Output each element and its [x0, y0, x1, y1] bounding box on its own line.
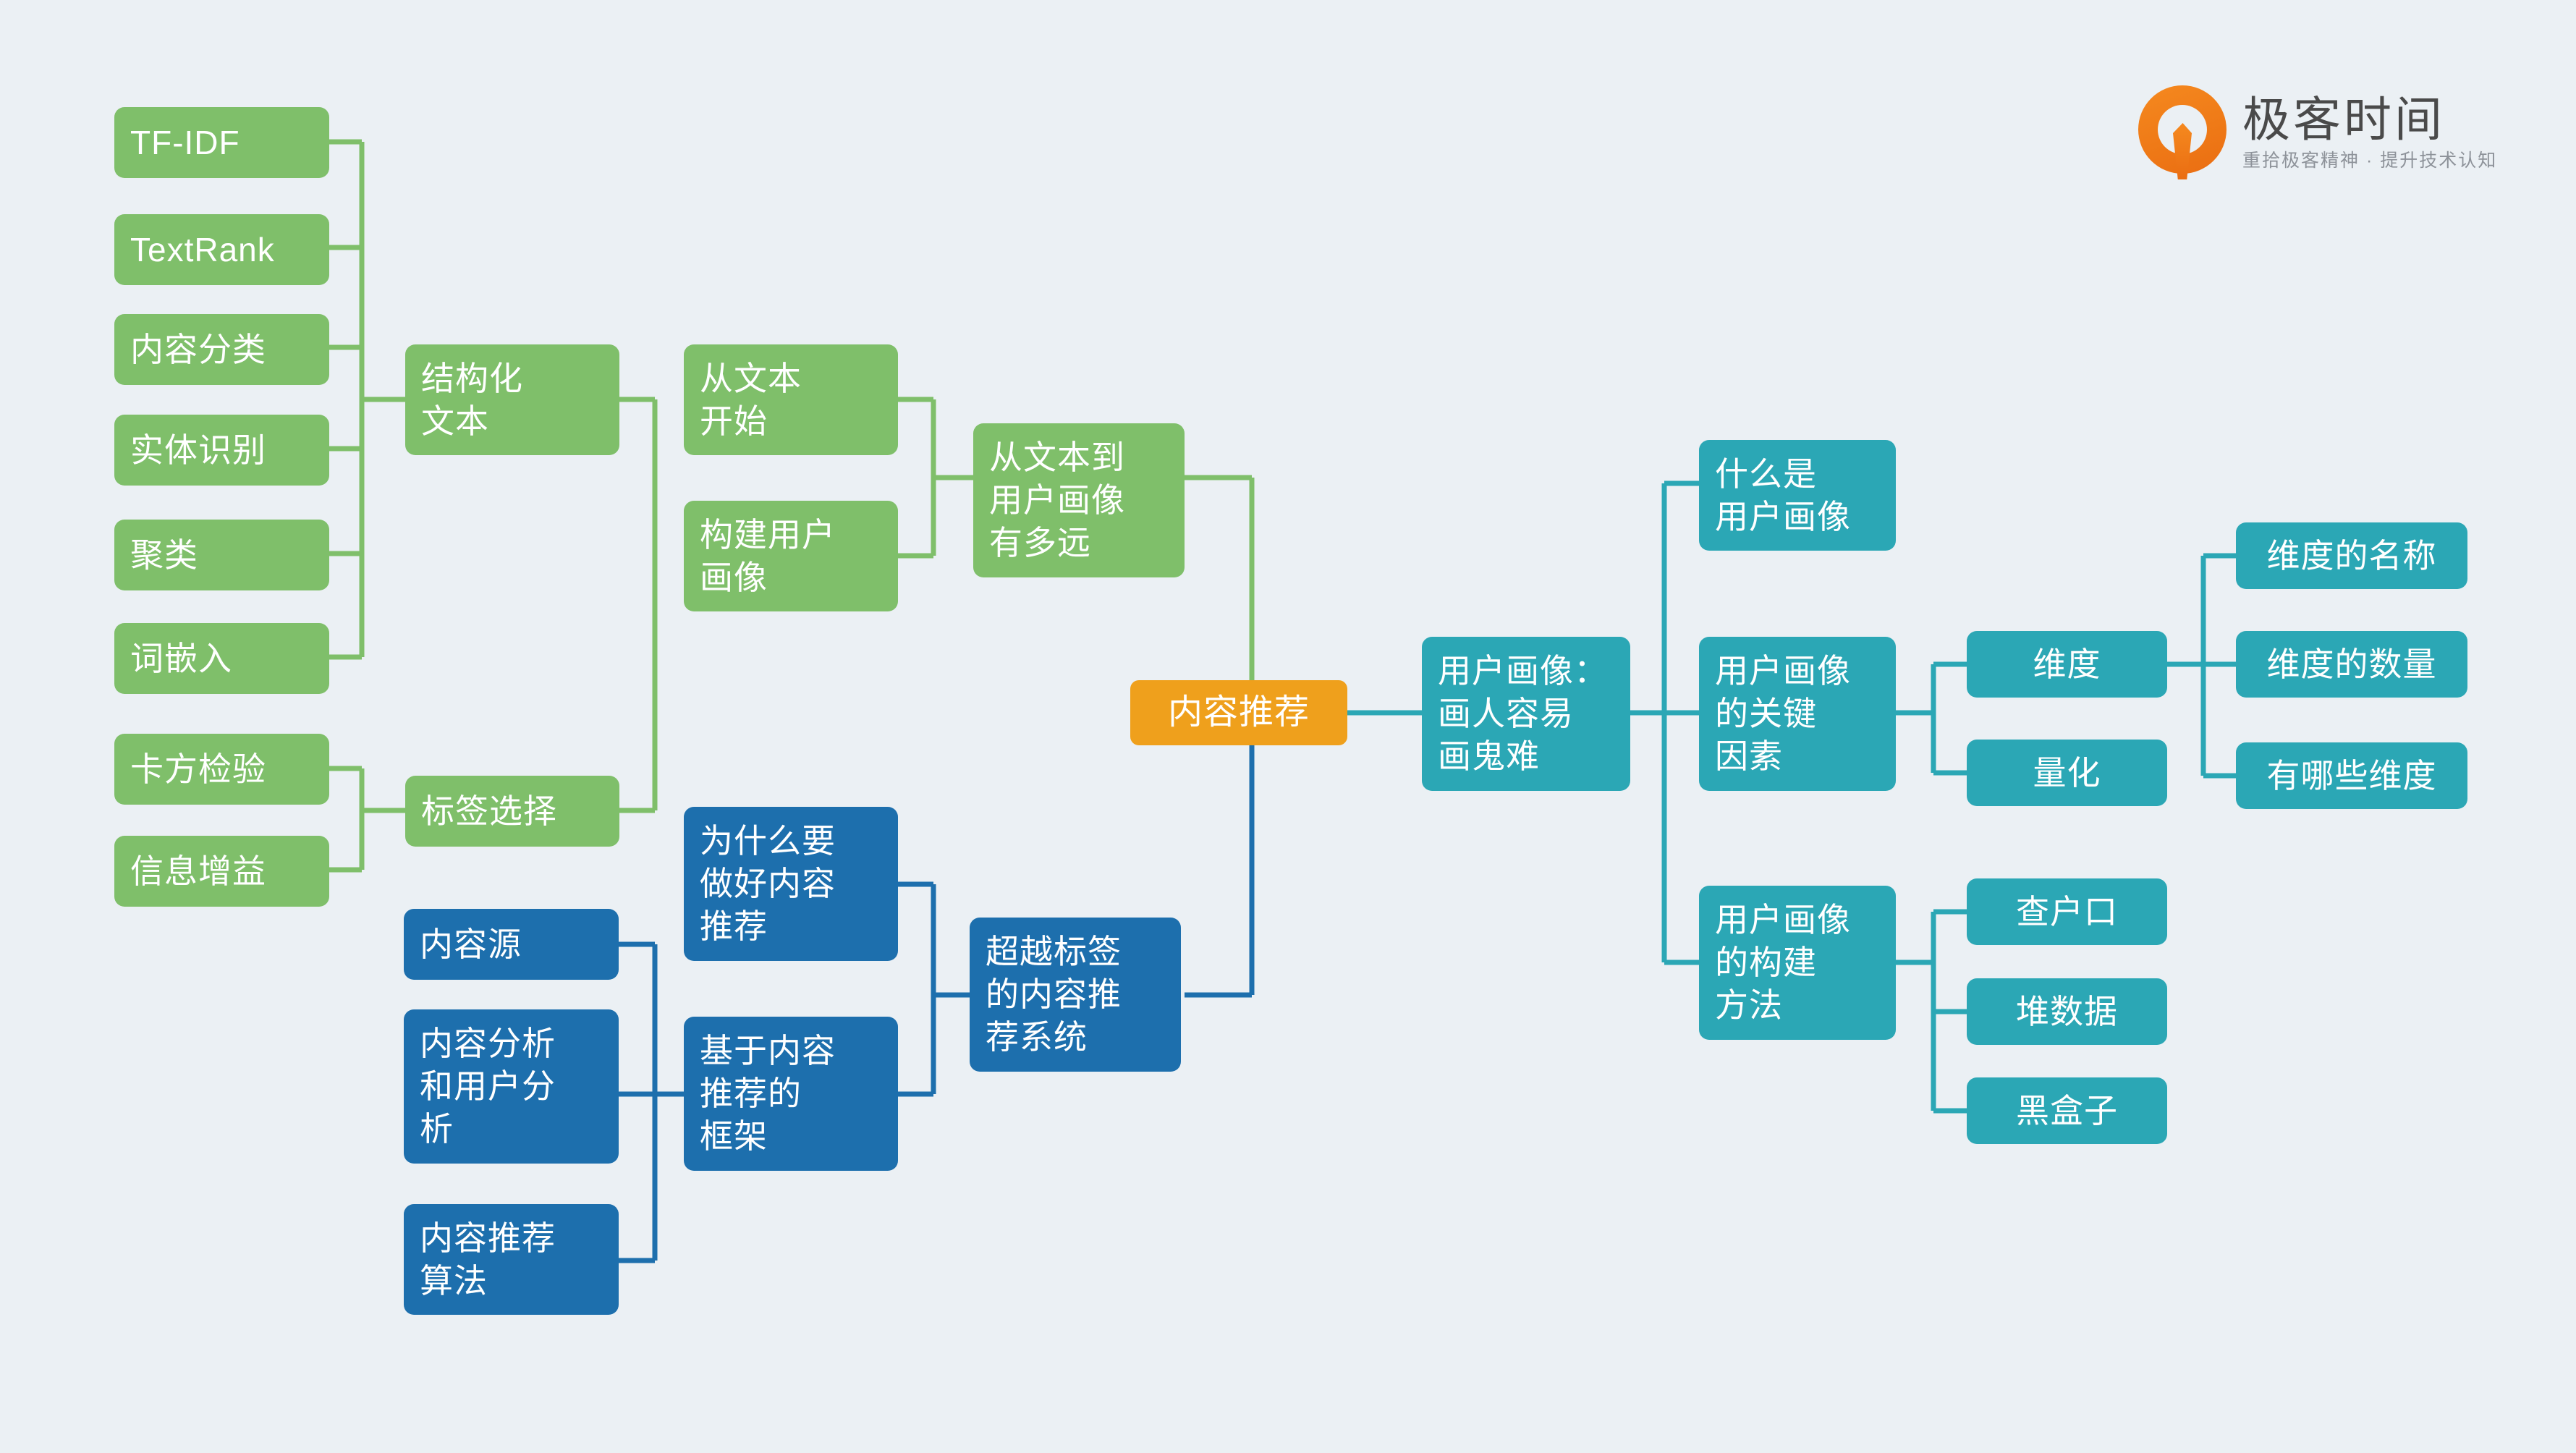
node-dimension-count[interactable]: 维度的数量	[2236, 631, 2467, 698]
node-start-from-text[interactable]: 从文本 开始	[684, 344, 898, 455]
node-tf-idf[interactable]: TF-IDF	[114, 107, 329, 178]
node-build-user-profile[interactable]: 构建用户 画像	[684, 501, 898, 611]
node-content-recommendation-framework[interactable]: 基于内容 推荐的 框架	[684, 1017, 898, 1171]
node-root-content-recommendation[interactable]: 内容推荐	[1130, 680, 1347, 745]
node-why-content-recommendation[interactable]: 为什么要 做好内容 推荐	[684, 807, 898, 961]
node-dimension-name[interactable]: 维度的名称	[2236, 522, 2467, 589]
node-clustering[interactable]: 聚类	[114, 520, 329, 590]
brand-tagline: 重拾极客精神 · 提升技术认知	[2242, 152, 2497, 170]
node-black-box[interactable]: 黑盒子	[1967, 1077, 2167, 1144]
node-dimension[interactable]: 维度	[1967, 631, 2167, 698]
node-content-classification[interactable]: 内容分类	[114, 314, 329, 385]
brand-name: 极客时间	[2242, 96, 2497, 143]
node-recommendation-algorithm[interactable]: 内容推荐 算法	[404, 1204, 619, 1315]
node-content-and-user-analysis[interactable]: 内容分析 和用户分 析	[404, 1009, 619, 1164]
node-textrank[interactable]: TextRank	[114, 214, 329, 285]
node-user-profile-build-method[interactable]: 用户画像 的构建 方法	[1699, 886, 1896, 1040]
node-user-profile-main[interactable]: 用户画像： 画人容易 画鬼难	[1422, 637, 1630, 791]
node-census[interactable]: 查户口	[1967, 878, 2167, 945]
node-quantification[interactable]: 量化	[1967, 740, 2167, 806]
node-what-is-user-profile[interactable]: 什么是 用户画像	[1699, 440, 1896, 551]
node-chi-square-test[interactable]: 卡方检验	[114, 734, 329, 805]
node-information-gain[interactable]: 信息增益	[114, 836, 329, 907]
node-pile-data[interactable]: 堆数据	[1967, 978, 2167, 1045]
node-tag-selection[interactable]: 标签选择	[405, 776, 619, 847]
node-entity-recognition[interactable]: 实体识别	[114, 415, 329, 486]
node-beyond-tags-recommender-system[interactable]: 超越标签 的内容推 荐系统	[970, 918, 1181, 1072]
geektime-lightbulb-icon	[2138, 85, 2227, 179]
brand-logo: 极客时间 重拾极客精神 · 提升技术认知	[2138, 78, 2500, 187]
node-text-to-profile-distance[interactable]: 从文本到 用户画像 有多远	[973, 423, 1185, 577]
brand-logo-text: 极客时间 重拾极客精神 · 提升技术认知	[2242, 96, 2497, 170]
mindmap-canvas: TF-IDF TextRank 内容分类 实体识别 聚类 词嵌入 卡方检验 信息…	[0, 0, 2576, 1453]
node-structured-text[interactable]: 结构化 文本	[405, 344, 619, 455]
node-content-source[interactable]: 内容源	[404, 909, 619, 980]
node-which-dimensions[interactable]: 有哪些维度	[2236, 742, 2467, 809]
node-user-profile-key-factors[interactable]: 用户画像 的关键 因素	[1699, 637, 1896, 791]
node-word-embedding[interactable]: 词嵌入	[114, 623, 329, 694]
